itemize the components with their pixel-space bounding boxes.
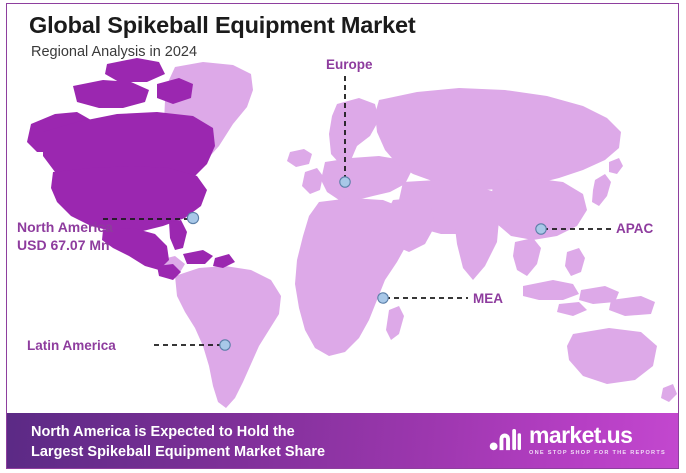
page-title: Global Spikeball Equipment Market bbox=[29, 12, 415, 38]
map-marker-north-america bbox=[187, 212, 198, 223]
header: Global Spikeball Equipment Market Region… bbox=[29, 12, 415, 60]
market-us-logo-icon bbox=[488, 424, 522, 456]
callout-label-north-america: North America USD 67.07 Mn bbox=[17, 219, 113, 255]
callout-label-mea: MEA bbox=[473, 290, 503, 307]
callout-mea-region: MEA bbox=[473, 291, 503, 306]
callout-apac-region: APAC bbox=[616, 221, 653, 236]
map-marker-europe bbox=[340, 177, 350, 187]
callout-label-europe: Europe bbox=[326, 56, 373, 73]
map-marker-apac bbox=[536, 224, 546, 234]
banner-headline-line2: Largest Spikeball Equipment Market Share bbox=[31, 442, 325, 462]
bottom-banner: North America is Expected to Hold the La… bbox=[7, 413, 679, 468]
callout-europe-region: Europe bbox=[326, 57, 373, 72]
logo-tagline: ONE STOP SHOP FOR THE REPORTS bbox=[529, 450, 666, 456]
map-landmasses bbox=[27, 58, 677, 408]
region-other bbox=[157, 62, 677, 408]
card-frame: Global Spikeball Equipment Market Region… bbox=[6, 3, 679, 469]
callout-north-america-value: USD 67.07 Mn bbox=[17, 237, 113, 255]
infographic-root: Global Spikeball Equipment Market Region… bbox=[0, 0, 686, 473]
callout-latin-america-region: Latin America bbox=[27, 338, 116, 353]
banner-headline: North America is Expected to Hold the La… bbox=[31, 422, 325, 462]
map-marker-mea bbox=[378, 293, 388, 303]
brand-logo[interactable]: market.us ONE STOP SHOP FOR THE REPORTS bbox=[488, 424, 666, 456]
banner-headline-line1: North America is Expected to Hold the bbox=[31, 424, 295, 440]
logo-wordmark: market.us bbox=[529, 424, 666, 447]
callout-label-apac: APAC bbox=[616, 220, 653, 237]
callout-label-latin-america: Latin America bbox=[27, 337, 116, 354]
callout-north-america-region: North America bbox=[17, 219, 113, 235]
map-marker-latin-america bbox=[220, 340, 230, 350]
